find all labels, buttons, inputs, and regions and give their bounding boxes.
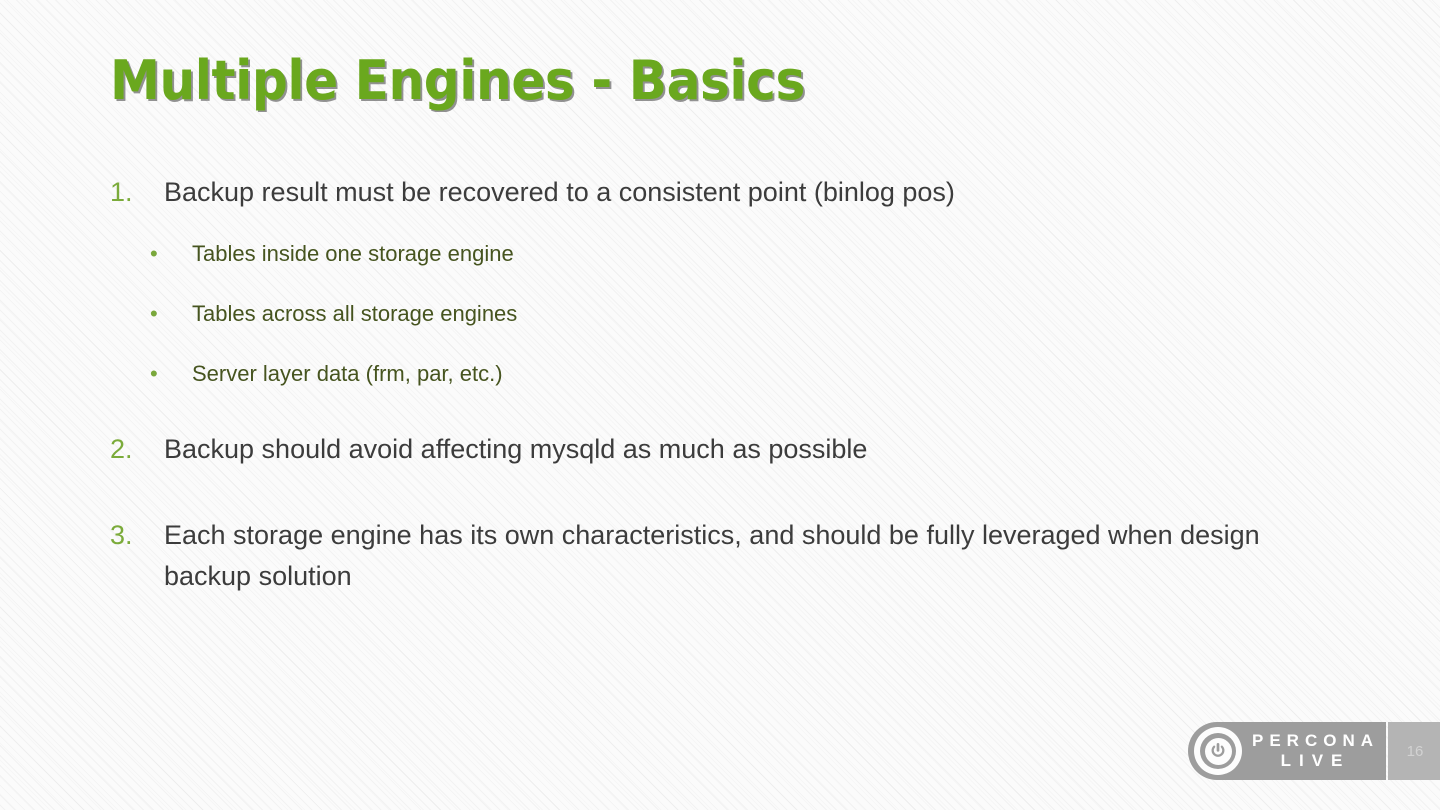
bullet-icon: • xyxy=(110,239,192,269)
sub-list-item-label: Tables inside one storage engine xyxy=(192,239,1340,269)
sub-list-item: • Tables inside one storage engine xyxy=(110,239,1340,269)
list-item-text: Backup result must be recovered to a con… xyxy=(164,172,1340,213)
page-title: Multiple Engines - Basics xyxy=(110,50,805,112)
list-item-text: Each storage engine has its own characte… xyxy=(164,515,1340,597)
logo-wordmark-line1: PERCONA xyxy=(1252,732,1379,750)
list-item: 2. Backup should avoid affecting mysqld … xyxy=(110,429,1340,470)
sub-list-item-label: Tables across all storage engines xyxy=(192,299,1340,329)
bullet-icon: • xyxy=(110,359,192,389)
logo-wordmark-line2: LIVE xyxy=(1252,752,1379,770)
list-item-number: 1. xyxy=(110,172,164,213)
power-icon-ring xyxy=(1200,733,1236,769)
sub-list: • Tables inside one storage engine • Tab… xyxy=(110,239,1340,389)
list-item-number: 2. xyxy=(110,429,164,470)
slide-number-panel: 16 xyxy=(1388,722,1440,780)
list-item: 1. Backup result must be recovered to a … xyxy=(110,172,1340,213)
slide-number: 16 xyxy=(1407,743,1424,760)
slide-canvas: Multiple Engines - Basics 1. Backup resu… xyxy=(0,0,1440,810)
percona-live-logo: PERCONA LIVE xyxy=(1188,722,1386,780)
power-button-icon xyxy=(1194,727,1242,775)
logo-wordmark: PERCONA LIVE xyxy=(1252,732,1386,770)
sub-list-item: • Tables across all storage engines xyxy=(110,299,1340,329)
slide-footer: PERCONA LIVE 16 xyxy=(1188,722,1440,780)
slide-body: 1. Backup result must be recovered to a … xyxy=(110,172,1340,619)
sub-list-item: • Server layer data (frm, par, etc.) xyxy=(110,359,1340,389)
list-item: 3. Each storage engine has its own chara… xyxy=(110,515,1340,597)
power-icon-inner xyxy=(1205,738,1232,765)
power-glyph-icon xyxy=(1210,743,1226,759)
spacer xyxy=(110,419,1340,429)
sub-list-item-label: Server layer data (frm, par, etc.) xyxy=(192,359,1340,389)
bullet-icon: • xyxy=(110,299,192,329)
list-item-number: 3. xyxy=(110,515,164,556)
list-item-text: Backup should avoid affecting mysqld as … xyxy=(164,429,1340,470)
